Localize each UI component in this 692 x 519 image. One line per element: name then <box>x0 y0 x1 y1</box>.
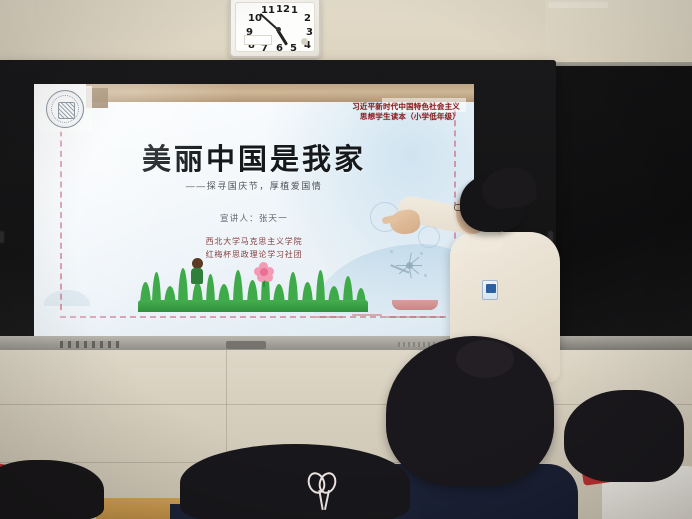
university-seal-logo <box>46 90 84 128</box>
flower-illustration <box>254 262 274 286</box>
slide-dashed-border-bottom <box>60 316 446 318</box>
bezel-knob-left[interactable] <box>0 230 5 244</box>
blackboard-bottom-frame <box>552 336 692 350</box>
rail-button-row[interactable] <box>60 341 120 348</box>
clock-corner-dot <box>301 38 308 45</box>
classroom-scene: 12 1 2 3 4 5 6 7 8 9 10 11 <box>0 0 692 519</box>
presenter-badge <box>482 280 498 300</box>
clock-numeral: 6 <box>276 43 283 54</box>
dandelion-seed <box>390 250 393 253</box>
clock-face: 12 1 2 3 4 5 6 7 8 9 10 11 <box>235 2 315 52</box>
white-ribbon-bow-icon <box>308 472 338 508</box>
student-hair <box>564 390 684 482</box>
student-front-center <box>180 444 410 519</box>
wall-clock: 12 1 2 3 4 5 6 7 8 9 10 11 <box>229 0 321 58</box>
student-right-glasses <box>556 390 692 519</box>
flower-core <box>260 268 268 276</box>
clock-numeral: 1 <box>291 5 298 16</box>
clock-numeral: 12 <box>276 4 290 15</box>
presenter-hair-top <box>479 164 538 211</box>
ceiling-trim <box>548 2 608 8</box>
rail-brand-label <box>226 341 266 349</box>
student-hair <box>386 336 554 486</box>
right-blackboard-panel <box>552 66 692 341</box>
slide-header-text: 习近平新时代中国特色社会主义 思想学生读本（小学低年级） <box>352 102 460 122</box>
clock-center-pin <box>276 27 281 32</box>
clock-numeral: 3 <box>306 27 313 38</box>
grass-base <box>138 300 368 312</box>
clock-numeral: 2 <box>304 13 311 24</box>
slide-header-line-2: 思想学生读本（小学低年级） <box>352 112 460 122</box>
grass-illustration <box>138 260 368 312</box>
child-figure-illustration <box>190 258 204 284</box>
slide-header-line-1: 习近平新时代中国特色社会主义 <box>352 102 460 112</box>
clock-label-plate <box>244 35 272 45</box>
student-bottom-left <box>0 460 136 519</box>
student-hair-part <box>456 340 514 378</box>
child-body <box>191 268 203 284</box>
wall-right <box>545 0 692 68</box>
stone-shape <box>44 290 90 306</box>
clock-numeral: 5 <box>290 43 297 54</box>
student-hair <box>0 460 104 519</box>
student-hair <box>180 444 410 519</box>
